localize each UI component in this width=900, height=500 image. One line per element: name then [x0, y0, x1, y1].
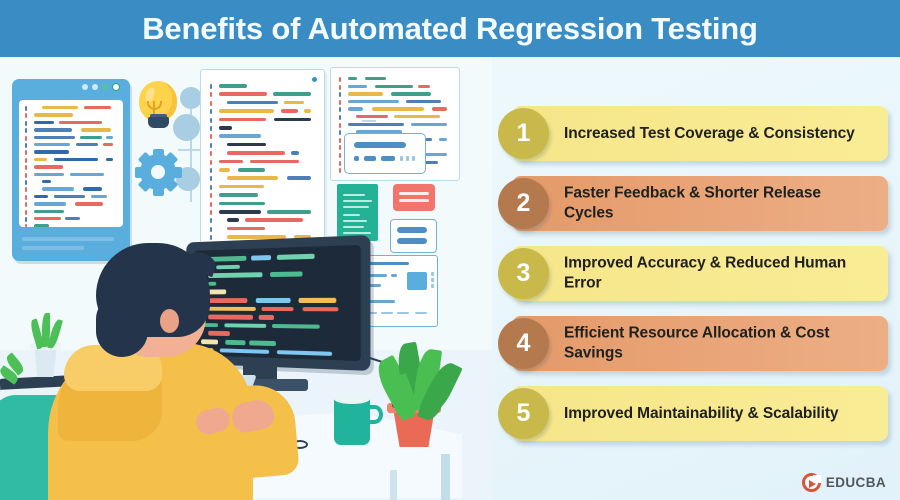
window-dot-icon [112, 83, 120, 91]
benefit-label: Improved Maintainability & Scalability [564, 403, 864, 423]
page-title: Benefits of Automated Regression Testing [142, 11, 758, 47]
illustration [0, 57, 492, 500]
benefit-number-badge: 2 [498, 178, 549, 229]
benefit-label: Improved Accuracy & Reduced Human Error [564, 253, 864, 294]
benefit-number: 4 [517, 329, 531, 358]
brand-name: EDUCBA [826, 475, 886, 490]
benefit-label: Faster Feedback & Shorter Release Cycles [564, 183, 864, 224]
code-sheet [200, 69, 325, 258]
monitor-screen [194, 245, 361, 361]
list-item[interactable]: 5 Improved Maintainability & Scalability [498, 386, 888, 441]
window-dot-icon [82, 84, 88, 90]
benefit-number: 5 [517, 399, 531, 428]
dash-decoration [362, 120, 376, 122]
educba-logo[interactable]: EDUCBA [802, 473, 886, 492]
benefit-label: Increased Test Coverage & Consistency [564, 123, 864, 143]
benefit-number-badge: 5 [498, 388, 549, 439]
benefit-number-badge: 1 [498, 108, 549, 159]
ui-mockup-card [390, 219, 437, 253]
window-dot-icon [102, 84, 108, 90]
gear-icon [136, 150, 180, 194]
benefit-number: 1 [517, 119, 531, 148]
benefit-number-badge: 4 [498, 318, 549, 369]
educba-play-circle-icon [802, 473, 821, 492]
infographic-root: Benefits of Automated Regression Testing [0, 0, 900, 500]
browser-code-window-icon [12, 79, 130, 261]
red-card [393, 184, 435, 211]
window-footer-line [22, 237, 114, 241]
benefit-label: Efficient Resource Allocation & Cost Sav… [564, 323, 864, 364]
list-item[interactable]: 2 Faster Feedback & Shorter Release Cycl… [498, 176, 888, 231]
content-stage: 1 Increased Test Coverage & Consistency … [0, 57, 900, 500]
window-titlebar [12, 79, 130, 95]
benefit-number: 2 [517, 189, 531, 218]
benefit-number: 3 [517, 259, 531, 288]
window-dot-icon [92, 84, 98, 90]
benefit-number-badge: 3 [498, 248, 549, 299]
benefits-list: 1 Increased Test Coverage & Consistency … [492, 57, 900, 500]
ui-mockup-card [344, 133, 426, 174]
window-code-area [19, 100, 123, 227]
list-item[interactable]: 4 Efficient Resource Allocation & Cost S… [498, 316, 888, 371]
window-footer-line [22, 246, 84, 250]
list-item[interactable]: 3 Improved Accuracy & Reduced Human Erro… [498, 246, 888, 301]
header-bar: Benefits of Automated Regression Testing [0, 0, 900, 57]
green-document-card [337, 184, 378, 241]
desk-leg [441, 454, 450, 500]
desk-leg [390, 470, 397, 500]
code-sheet-lines [201, 70, 324, 257]
list-item[interactable]: 1 Increased Test Coverage & Consistency [498, 106, 888, 161]
